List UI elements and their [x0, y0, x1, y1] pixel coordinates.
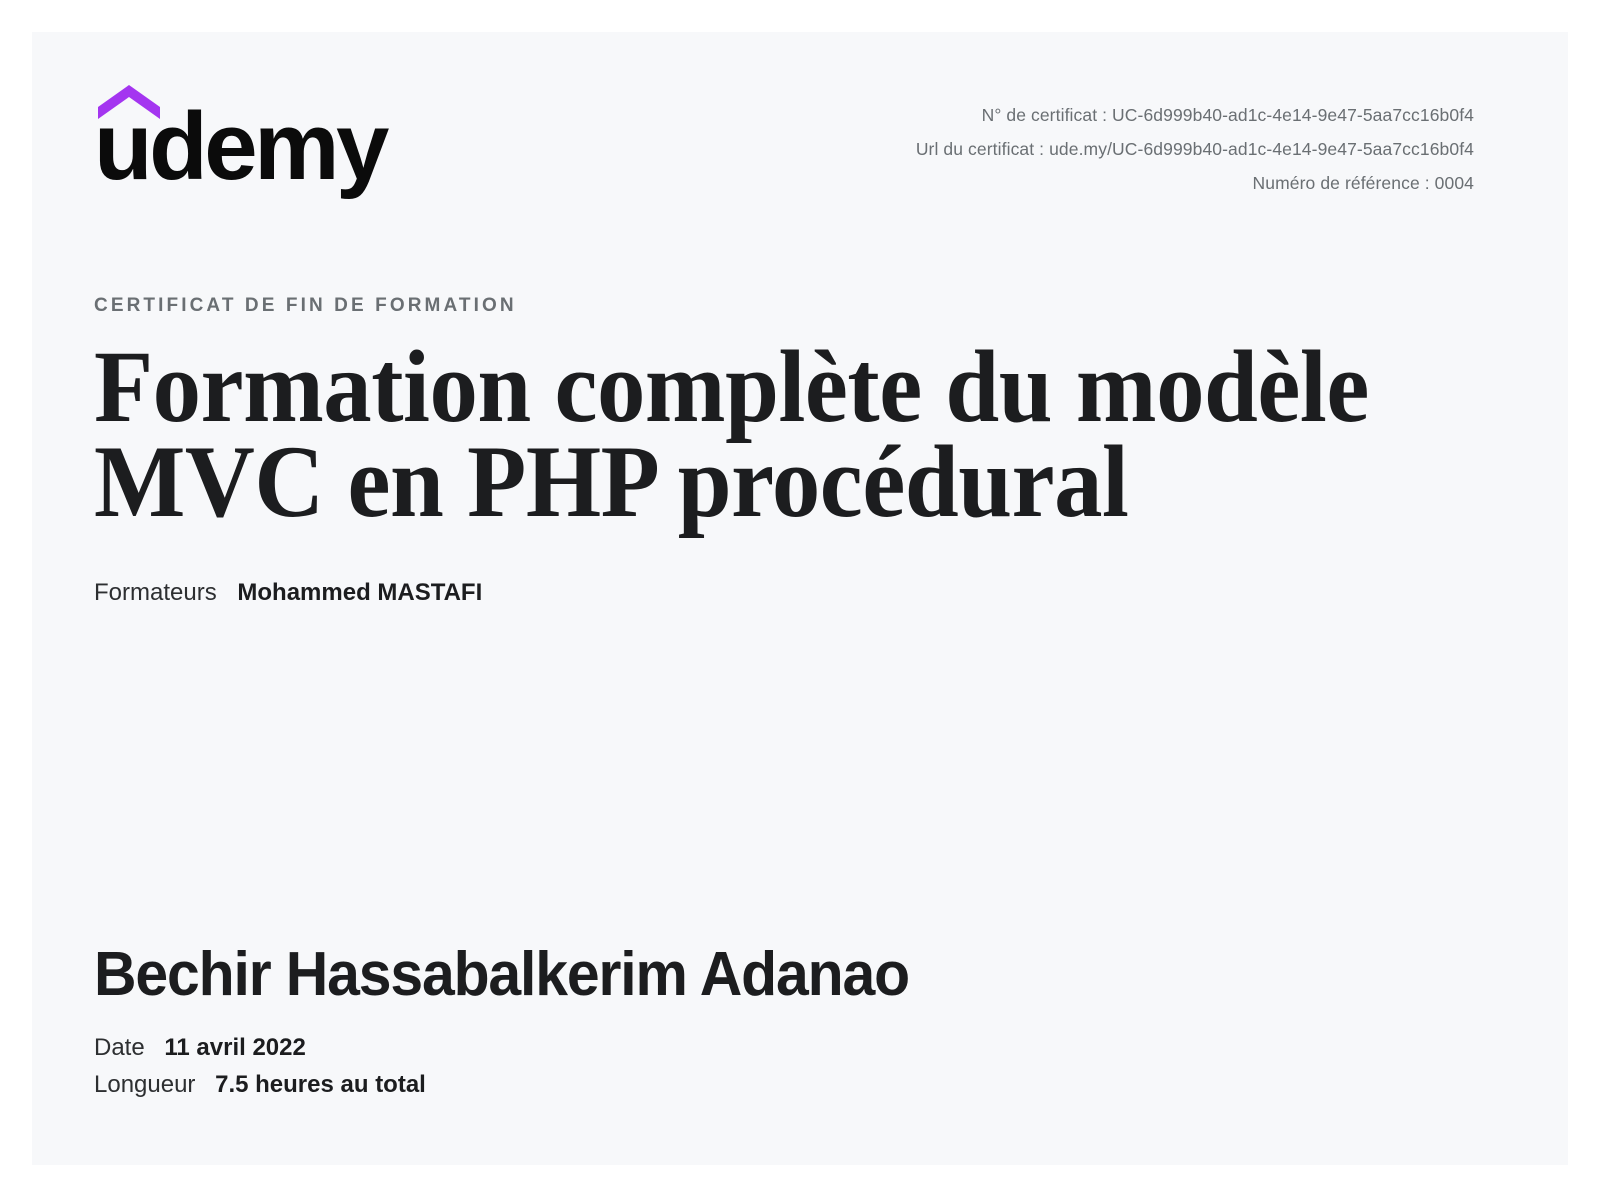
recipient-block: Bechir Hassabalkerim Adanao Date 11 avri…: [94, 943, 1506, 1103]
certificate-url: Url du certificat : ude.my/UC-6d999b40-a…: [916, 132, 1474, 166]
instructors-value: Mohammed MASTAFI: [237, 579, 482, 606]
instructors-row: Formateurs Mohammed MASTAFI: [94, 578, 1506, 608]
udemy-wordmark: udemy: [94, 99, 386, 195]
certificate-reference-number: Numéro de référence : 0004: [916, 166, 1474, 200]
length-row: Longueur 7.5 heures au total: [94, 1066, 1506, 1103]
certificate-number: N° de certificat : UC-6d999b40-ad1c-4e14…: [916, 98, 1474, 132]
certificate-body: CERTIFICAT DE FIN DE FORMATION Formation…: [94, 294, 1506, 608]
certificate-header: udemy N° de certificat : UC-6d999b40-ad1…: [32, 32, 1568, 207]
date-value: 11 avril 2022: [164, 1034, 305, 1061]
date-row: Date 11 avril 2022: [94, 1029, 1506, 1066]
certificate-metadata: N° de certificat : UC-6d999b40-ad1c-4e14…: [916, 98, 1474, 200]
recipient-name: Bechir Hassabalkerim Adanao: [94, 943, 1435, 1007]
length-label: Longueur: [94, 1071, 195, 1098]
udemy-logo[interactable]: udemy: [94, 85, 354, 190]
instructors-label: Formateurs: [94, 579, 217, 606]
length-value: 7.5 heures au total: [215, 1071, 426, 1098]
certificate-type-label: CERTIFICAT DE FIN DE FORMATION: [94, 294, 1506, 318]
course-title: Formation complète du modèle MVC en PHP …: [94, 340, 1410, 530]
certificate-card: udemy N° de certificat : UC-6d999b40-ad1…: [32, 32, 1568, 1165]
date-label: Date: [94, 1034, 145, 1061]
